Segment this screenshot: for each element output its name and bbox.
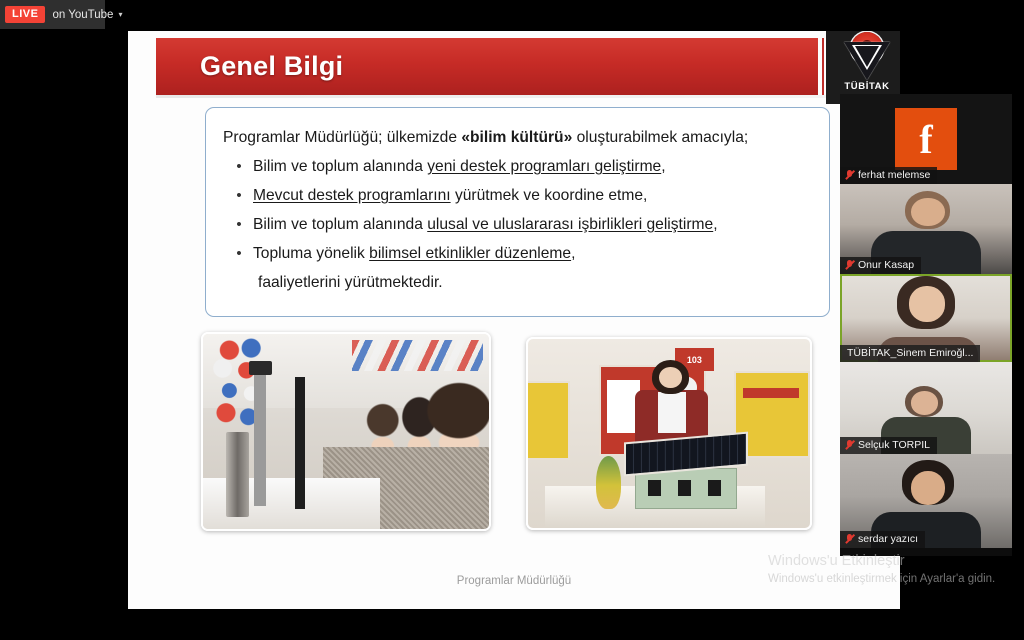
bullet-post: , bbox=[713, 216, 717, 233]
participant-tile[interactable]: Selçuk TORPIL bbox=[840, 362, 1012, 454]
participant-name-chip: Selçuk TORPIL bbox=[840, 437, 937, 454]
bullet-pre: Bilim ve toplum alanında bbox=[253, 216, 427, 233]
intro-post: oluşturabilmek amacıyla; bbox=[572, 129, 748, 146]
participant-tile[interactable]: Onur Kasap bbox=[840, 184, 1012, 274]
page-title: Genel Bilgi bbox=[200, 51, 343, 82]
participant-name: TÜBİTAK_Sinem Emiroğl... bbox=[847, 347, 973, 359]
bullet-pre: Topluma yönelik bbox=[253, 245, 369, 262]
bullet-post: , bbox=[661, 158, 665, 175]
bullet-item: • Bilim ve toplum alanında ulusal ve ulu… bbox=[220, 210, 813, 239]
tubitak-emblem-icon bbox=[841, 32, 893, 82]
bullet-underline: ulusal ve uluslararası işbirlikleri geli… bbox=[427, 216, 713, 233]
bullet-underline: Mevcut destek programlarını bbox=[253, 187, 451, 204]
bullet-icon: • bbox=[225, 181, 253, 210]
participant-tile[interactable]: serdar yazıcı bbox=[840, 454, 1012, 548]
video-feed-detail bbox=[911, 471, 945, 505]
live-indicator: LIVE bbox=[5, 6, 45, 23]
video-feed-detail bbox=[911, 391, 939, 415]
participant-name-chip: Onur Kasap bbox=[840, 257, 921, 274]
participant-name: Onur Kasap bbox=[858, 259, 914, 271]
intro-paragraph: Programlar Müdürlüğü; ülkemizde «bilim k… bbox=[223, 123, 813, 152]
mic-muted-icon bbox=[845, 169, 854, 181]
participant-name-chip: ferhat melemse bbox=[840, 167, 937, 184]
presentation-slide: Genel Bilgi TÜBİTAK Programlar Müdürlüğü… bbox=[128, 31, 900, 609]
bullet-post: , bbox=[571, 245, 575, 262]
intro-bold: «bilim kültürü» bbox=[461, 129, 572, 146]
bullet-text: Bilim ve toplum alanında ulusal ve ulusl… bbox=[253, 210, 718, 239]
bullet-icon: • bbox=[225, 210, 253, 239]
mic-muted-icon bbox=[845, 533, 854, 545]
bullet-text: Mevcut destek programlarını yürütmek ve … bbox=[253, 181, 647, 210]
closing-line: faaliyetlerini yürütmektedir. bbox=[258, 268, 813, 297]
slide-text-box: Programlar Müdürlüğü; ülkemizde «bilim k… bbox=[205, 107, 830, 317]
bullet-pre: Bilim ve toplum alanında bbox=[253, 158, 427, 175]
bullet-underline: bilimsel etkinlikler düzenleme bbox=[369, 245, 571, 262]
video-feed-detail bbox=[911, 198, 945, 227]
bullet-item: • Mevcut destek programlarını yürütmek v… bbox=[220, 181, 813, 210]
bullet-item: • Bilim ve toplum alanında yeni destek p… bbox=[220, 152, 813, 181]
live-stream-badge[interactable]: LIVE on YouTube ▾ bbox=[0, 0, 105, 29]
tubitak-logo-text: TÜBİTAK bbox=[844, 81, 889, 92]
slide-title-bar: Genel Bilgi bbox=[156, 38, 818, 95]
title-underline bbox=[156, 95, 834, 98]
chevron-down-icon[interactable]: ▾ bbox=[118, 10, 122, 19]
participant-name: serdar yazıcı bbox=[858, 533, 918, 545]
bullet-item: • Topluma yönelik bilimsel etkinlikler d… bbox=[220, 239, 813, 268]
bullet-icon: • bbox=[225, 239, 253, 268]
intro-pre: Programlar Müdürlüğü; ülkemizde bbox=[223, 129, 461, 146]
mic-muted-icon bbox=[845, 259, 854, 271]
slide-photo-science-fair bbox=[201, 332, 491, 531]
avatar: f bbox=[895, 108, 957, 170]
mic-muted-icon bbox=[845, 439, 854, 451]
bullet-text: Bilim ve toplum alanında yeni destek pro… bbox=[253, 152, 666, 181]
screen-share-view: LIVE on YouTube ▾ Genel Bilgi TÜBİTAK Pr… bbox=[0, 0, 1024, 640]
participant-video-panel: f ferhat melemse Onur Kasap TÜBİTAK_Sine… bbox=[840, 94, 1012, 556]
participant-name: Selçuk TORPIL bbox=[858, 439, 930, 451]
bullet-icon: • bbox=[225, 152, 253, 181]
participant-name-chip: serdar yazıcı bbox=[840, 531, 925, 548]
participant-tile[interactable]: TÜBİTAK_Sinem Emiroğl... bbox=[840, 274, 1012, 362]
bullet-text: Topluma yönelik bilimsel etkinlikler düz… bbox=[253, 239, 575, 268]
bullet-underline: yeni destek programları geliştirme bbox=[427, 158, 661, 175]
slide-footer-text: Programlar Müdürlüğü bbox=[128, 575, 900, 587]
participant-name-chip: TÜBİTAK_Sinem Emiroğl... bbox=[840, 345, 980, 362]
participant-tile[interactable]: f ferhat melemse bbox=[840, 94, 1012, 184]
participant-name: ferhat melemse bbox=[858, 169, 930, 181]
stream-platform-label: on YouTube bbox=[52, 9, 113, 21]
slide-photo-solar-project: 103 bbox=[526, 337, 812, 530]
bullet-post: yürütmek ve koordine etme, bbox=[451, 187, 648, 204]
video-feed-detail bbox=[909, 286, 945, 321]
